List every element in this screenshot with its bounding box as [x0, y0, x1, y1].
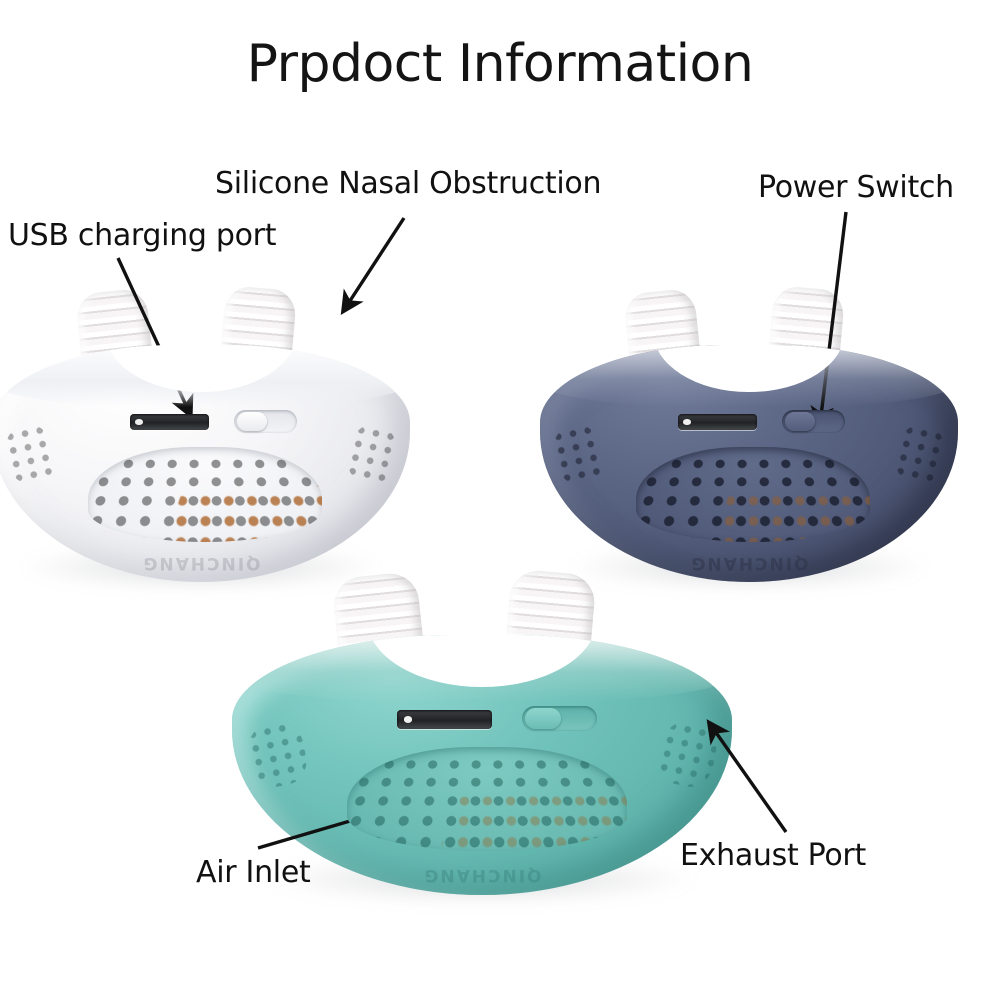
switch-knob [237, 412, 267, 431]
power-switch [522, 706, 597, 731]
side-vent-left [244, 718, 311, 791]
side-vent-left [1, 421, 58, 486]
callout-label-silicone-nasal-obstruction: Silicone Nasal Obstruction [215, 166, 601, 201]
air-inlet-grille [636, 447, 870, 542]
callout-label-usb-charging-port: USB charging port [8, 218, 276, 253]
brand-mark: QINCHANG [0, 553, 410, 573]
product-white: QINCHANG [0, 288, 410, 588]
brand-mark: QINCHANG [232, 865, 732, 885]
power-switch [234, 410, 297, 433]
air-inlet-grille [347, 747, 627, 851]
infographic-canvas: Prpdoct Information QINCHANG [0, 0, 1000, 1000]
side-vent-left [549, 421, 606, 486]
product-teal: QINCHANG [232, 572, 732, 902]
page-title: Prpdoct Information [0, 34, 1000, 94]
side-vent-right [654, 718, 721, 791]
usb-port [678, 414, 757, 431]
callout-label-power-switch: Power Switch [758, 170, 954, 205]
usb-port [130, 414, 209, 431]
air-inlet-grille [88, 447, 322, 542]
product-navy: QINCHANG [540, 288, 958, 588]
brand-mark: QINCHANG [540, 553, 958, 573]
switch-knob [785, 412, 815, 431]
switch-knob [525, 708, 561, 729]
side-vent-right [344, 421, 401, 486]
usb-port [397, 710, 492, 728]
side-vent-right [892, 421, 949, 486]
power-switch [782, 410, 845, 433]
